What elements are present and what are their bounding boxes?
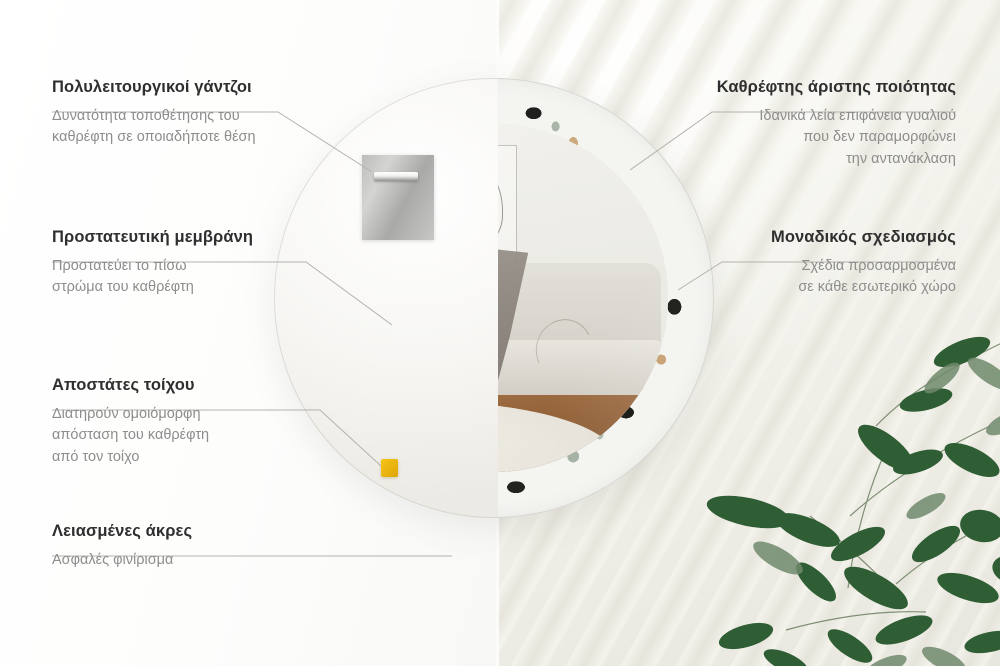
callout-membrane-description: Προστατεύει το πίσωστρώμα του καθρέφτη <box>52 256 302 299</box>
wall-spacer <box>381 459 398 477</box>
callout-edges: Λειασμένες άκρες Ασφαλές φινίρισμα <box>52 522 302 571</box>
callout-spacers-description: Διατηρούν ομοιόμορφηαπόσταση του καθρέφτ… <box>52 404 302 468</box>
hanger-hook-slot <box>374 172 418 181</box>
callout-membrane-title: Προστατευτική μεμβράνη <box>52 228 302 247</box>
callout-hooks: Πολυλειτουργικοί γάντζοι Δυνατότητα τοπο… <box>52 78 302 149</box>
round-mirror-product <box>274 78 714 518</box>
callout-unique-design-title: Μοναδικός σχεδιασμός <box>726 228 956 247</box>
callout-quality-mirror: Καθρέφτης άριστης ποιότητας Ιδανικά λεία… <box>696 78 956 170</box>
callout-quality-mirror-title: Καθρέφτης άριστης ποιότητας <box>696 78 956 97</box>
callout-edges-description: Ασφαλές φινίρισμα <box>52 550 302 571</box>
callout-unique-design: Μοναδικός σχεδιασμός Σχέδια προσαρμοσμέν… <box>726 228 956 299</box>
hanger-plate <box>362 155 434 240</box>
callout-unique-design-description: Σχέδια προσαρμοσμένασε κάθε εσωτερικό χώ… <box>726 256 956 299</box>
callout-spacers-title: Αποστάτες τοίχου <box>52 376 302 395</box>
callout-membrane: Προστατευτική μεμβράνη Προστατεύει το πί… <box>52 228 302 299</box>
product-infographic: Πολυλειτουργικοί γάντζοι Δυνατότητα τοπο… <box>0 0 1000 666</box>
callout-hooks-title: Πολυλειτουργικοί γάντζοι <box>52 78 302 97</box>
callout-edges-title: Λειασμένες άκρες <box>52 522 302 541</box>
callout-quality-mirror-description: Ιδανικά λεία επιφάνεια γυαλιούπου δεν πα… <box>696 106 956 170</box>
callout-hooks-description: Δυνατότητα τοποθέτησης τουκαθρέφτη σε οπ… <box>52 106 302 149</box>
callout-spacers: Αποστάτες τοίχου Διατηρούν ομοιόμορφηαπό… <box>52 376 302 468</box>
